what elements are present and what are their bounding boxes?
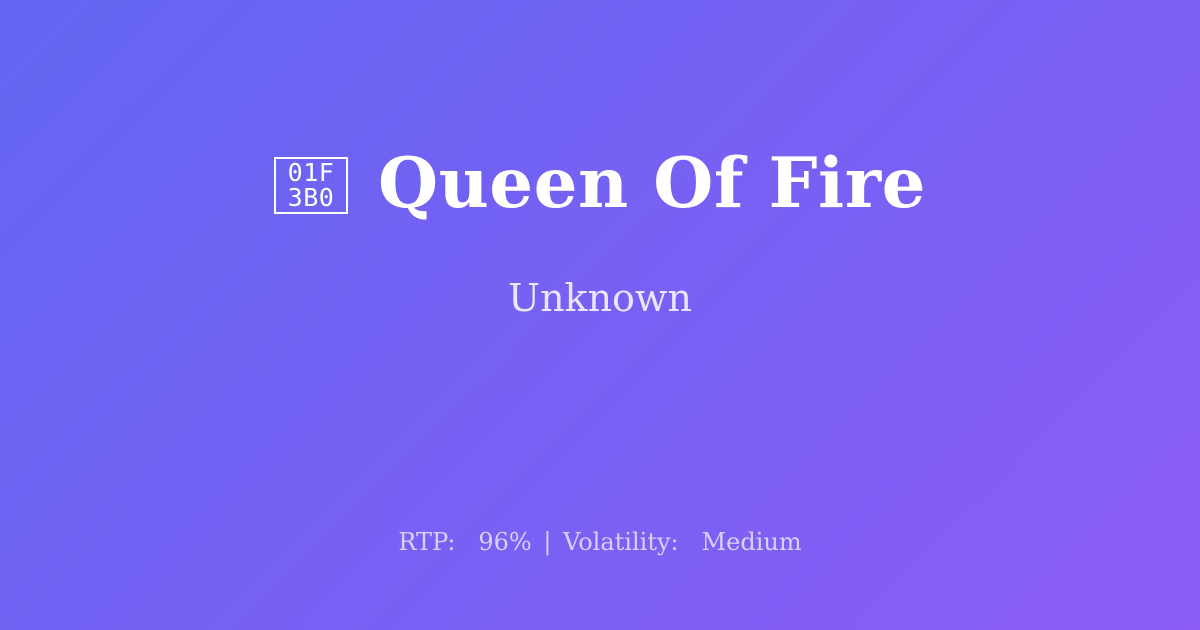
game-meta-line: RTP: 96% | Volatility: Medium (0, 528, 1200, 557)
tofu-codepoint-row-upper: 01F (288, 160, 335, 185)
provider-subtitle: Unknown (508, 276, 692, 322)
og-share-card: 01F 3B0 Queen Of Fire Unknown RTP: 96% |… (0, 0, 1200, 630)
rtp-value: 96% (478, 528, 531, 556)
card-center-stack: 01F 3B0 Queen Of Fire Unknown (0, 0, 1200, 470)
volatility-value: Medium (702, 528, 802, 556)
title-row: 01F 3B0 Queen Of Fire (274, 148, 926, 220)
tofu-codepoint-row-lower: 3B0 (288, 185, 335, 210)
rtp-label: RTP: (398, 528, 455, 556)
volatility-label: Volatility: (563, 528, 679, 556)
meta-separator: | (539, 528, 555, 556)
page-title: Queen Of Fire (378, 148, 926, 220)
slot-machine-icon: 01F 3B0 (274, 157, 348, 214)
